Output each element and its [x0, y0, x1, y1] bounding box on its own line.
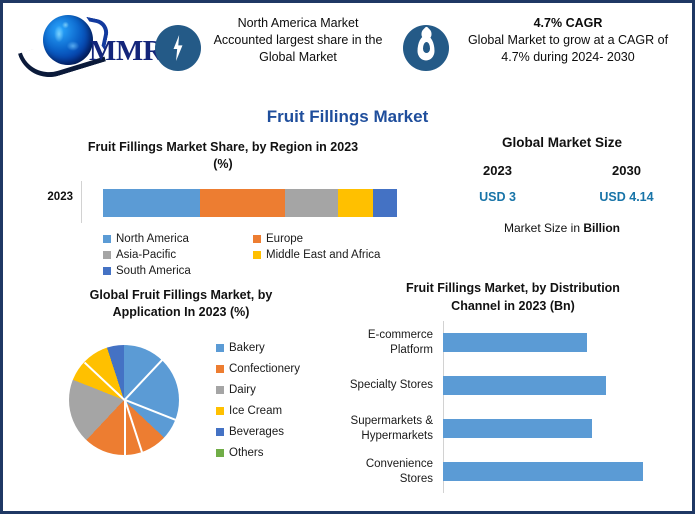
chart-title-line-1: Fruit Fillings Market Share, by Region i… [43, 139, 403, 156]
mmr-logo: MMR [15, 11, 147, 77]
market-size-values: USD 3 USD 4.14 [433, 190, 691, 204]
legend-item[interactable]: North America [103, 231, 253, 247]
chart-title-line-2: Application In 2023 (%) [41, 304, 321, 321]
header-highlight-cagr: 4.7% CAGR Global Market to grow at a CAG… [403, 15, 691, 71]
unit-prefix: Market Size in [504, 221, 583, 235]
legend-item[interactable]: Others [216, 442, 300, 463]
legend-label: North America [116, 233, 189, 245]
highlight-line-3: Global Market [259, 50, 337, 64]
chart-title: Fruit Fillings Market, by Distribution C… [353, 279, 673, 315]
lightning-bolt-icon [155, 25, 201, 71]
bar-category-label: E-commercePlatform [335, 328, 439, 358]
legend-label: Middle East and Africa [266, 249, 380, 261]
y-axis-line [81, 181, 82, 223]
pie-graphic [69, 345, 179, 455]
legend-item[interactable]: South America [103, 263, 253, 279]
bar-category-label: Supermarkets &Hypermarkets [335, 414, 439, 444]
chart-plot-area [81, 181, 401, 223]
legend-label: Beverages [229, 426, 284, 438]
bar-row: Supermarkets &Hypermarkets [335, 407, 691, 450]
legend-swatch-icon [216, 365, 224, 373]
stacked-bar-segment [338, 189, 373, 217]
stacked-bar [103, 189, 397, 217]
pie-slice-divider [124, 400, 126, 455]
market-size-unit: Market Size in Billion [433, 221, 691, 235]
stacked-bar-segment [285, 189, 338, 217]
highlight-line-1: North America Market [238, 16, 359, 30]
legend-item[interactable]: Dairy [216, 379, 300, 400]
year-start: 2023 [433, 163, 562, 178]
legend-swatch-icon [253, 235, 261, 243]
legend-label: Ice Cream [229, 405, 282, 417]
bar-category-label-line: Stores [335, 472, 433, 487]
bar [443, 376, 606, 395]
chart-title-line-1: Global Fruit Fillings Market, by [41, 287, 321, 304]
panel-title: Global Market Size [433, 135, 691, 150]
bar-category-label-line: Hypermarkets [335, 429, 433, 444]
distribution-channel-chart: Fruit Fillings Market, by Distribution C… [335, 279, 691, 511]
global-market-size-panel: Global Market Size 2023 2030 USD 3 USD 4… [433, 135, 691, 275]
legend-label: South America [116, 265, 191, 277]
axis-category-label: 2023 [23, 191, 73, 203]
bar-category-label-line: Supermarkets & [335, 414, 433, 429]
bar [443, 462, 643, 481]
market-size-years: 2023 2030 [433, 163, 691, 178]
value-end: USD 4.14 [562, 190, 691, 204]
bar-row: Specialty Stores [335, 364, 691, 407]
year-end: 2030 [562, 163, 691, 178]
header-highlight-text: North America Market Accounted largest s… [209, 15, 387, 66]
chart-title: Global Fruit Fillings Market, by Applica… [41, 287, 321, 321]
chart-title-line-2: Channel in 2023 (Bn) [353, 297, 673, 315]
chart-title-line-1: Fruit Fillings Market, by Distribution [353, 279, 673, 297]
chart-plot-area: E-commercePlatformSpecialty StoresSuperm… [335, 321, 691, 499]
bar [443, 419, 592, 438]
legend-label: Asia-Pacific [116, 249, 176, 261]
unit-bold: Billion [583, 221, 620, 235]
highlight-line-1: Global Market to grow at a [468, 33, 615, 47]
bar-category-label-line: Specialty Stores [335, 378, 433, 393]
bar-category-label: ConvenienceStores [335, 457, 439, 487]
bar [443, 333, 587, 352]
legend-label: Others [229, 447, 264, 459]
stacked-bar-segment [200, 189, 285, 217]
bar-category-label-line: E-commerce [335, 328, 433, 343]
legend-swatch-icon [103, 235, 111, 243]
legend-swatch-icon [216, 407, 224, 415]
legend-label: Dairy [229, 384, 256, 396]
page-title: Fruit Fillings Market [3, 107, 692, 127]
bar-category-label-line: Platform [335, 343, 433, 358]
chart-legend: North AmericaEuropeAsia-PacificMiddle Ea… [103, 231, 403, 279]
bar-row: ConvenienceStores [335, 450, 691, 493]
legend-swatch-icon [253, 251, 261, 259]
pie-slice-divider [84, 362, 125, 401]
highlight-line-3: 2030 [607, 50, 635, 64]
stacked-bar-segment [103, 189, 200, 217]
legend-swatch-icon [216, 344, 224, 352]
chart-title-line-2: (%) [43, 156, 403, 173]
header-highlight-text: 4.7% CAGR Global Market to grow at a CAG… [457, 15, 679, 66]
legend-item[interactable]: Middle East and Africa [253, 247, 403, 263]
legend-swatch-icon [216, 449, 224, 457]
pie-slice-divider [124, 400, 143, 453]
stacked-bar-segment [373, 189, 397, 217]
region-share-chart: Fruit Fillings Market Share, by Region i… [23, 139, 423, 279]
application-pie-chart: Global Fruit Fillings Market, by Applica… [21, 287, 341, 509]
value-start: USD 3 [433, 190, 562, 204]
bar-category-label: Specialty Stores [335, 378, 439, 393]
legend-label: Europe [266, 233, 303, 245]
header-highlight-north-america: North America Market Accounted largest s… [155, 15, 387, 71]
chart-title: Fruit Fillings Market Share, by Region i… [43, 139, 403, 173]
header: MMR North America Market Accounted large… [3, 3, 692, 98]
legend-label: Bakery [229, 342, 265, 354]
chart-legend: BakeryConfectioneryDairyIce CreamBeverag… [216, 337, 300, 463]
legend-swatch-icon [103, 267, 111, 275]
flame-icon [403, 25, 449, 71]
legend-item[interactable]: Europe [253, 231, 403, 247]
legend-item[interactable]: Ice Cream [216, 400, 300, 421]
legend-label: Confectionery [229, 363, 300, 375]
bar-row: E-commercePlatform [335, 321, 691, 364]
pie-slice-divider [125, 399, 177, 421]
legend-item[interactable]: Bakery [216, 337, 300, 358]
legend-swatch-icon [216, 386, 224, 394]
legend-swatch-icon [103, 251, 111, 259]
legend-item[interactable]: Confectionery [216, 358, 300, 379]
pie-slice-divider [124, 359, 163, 400]
legend-item[interactable]: Asia-Pacific [103, 247, 253, 263]
infographic-page: MMR North America Market Accounted large… [0, 0, 695, 514]
legend-item[interactable]: Beverages [216, 421, 300, 442]
highlight-line-2: Accounted largest share in the [214, 33, 383, 47]
bar-category-label-line: Convenience [335, 457, 433, 472]
brand-name: MMR [89, 35, 163, 68]
legend-swatch-icon [216, 428, 224, 436]
cagr-value: 4.7% CAGR [457, 15, 679, 32]
